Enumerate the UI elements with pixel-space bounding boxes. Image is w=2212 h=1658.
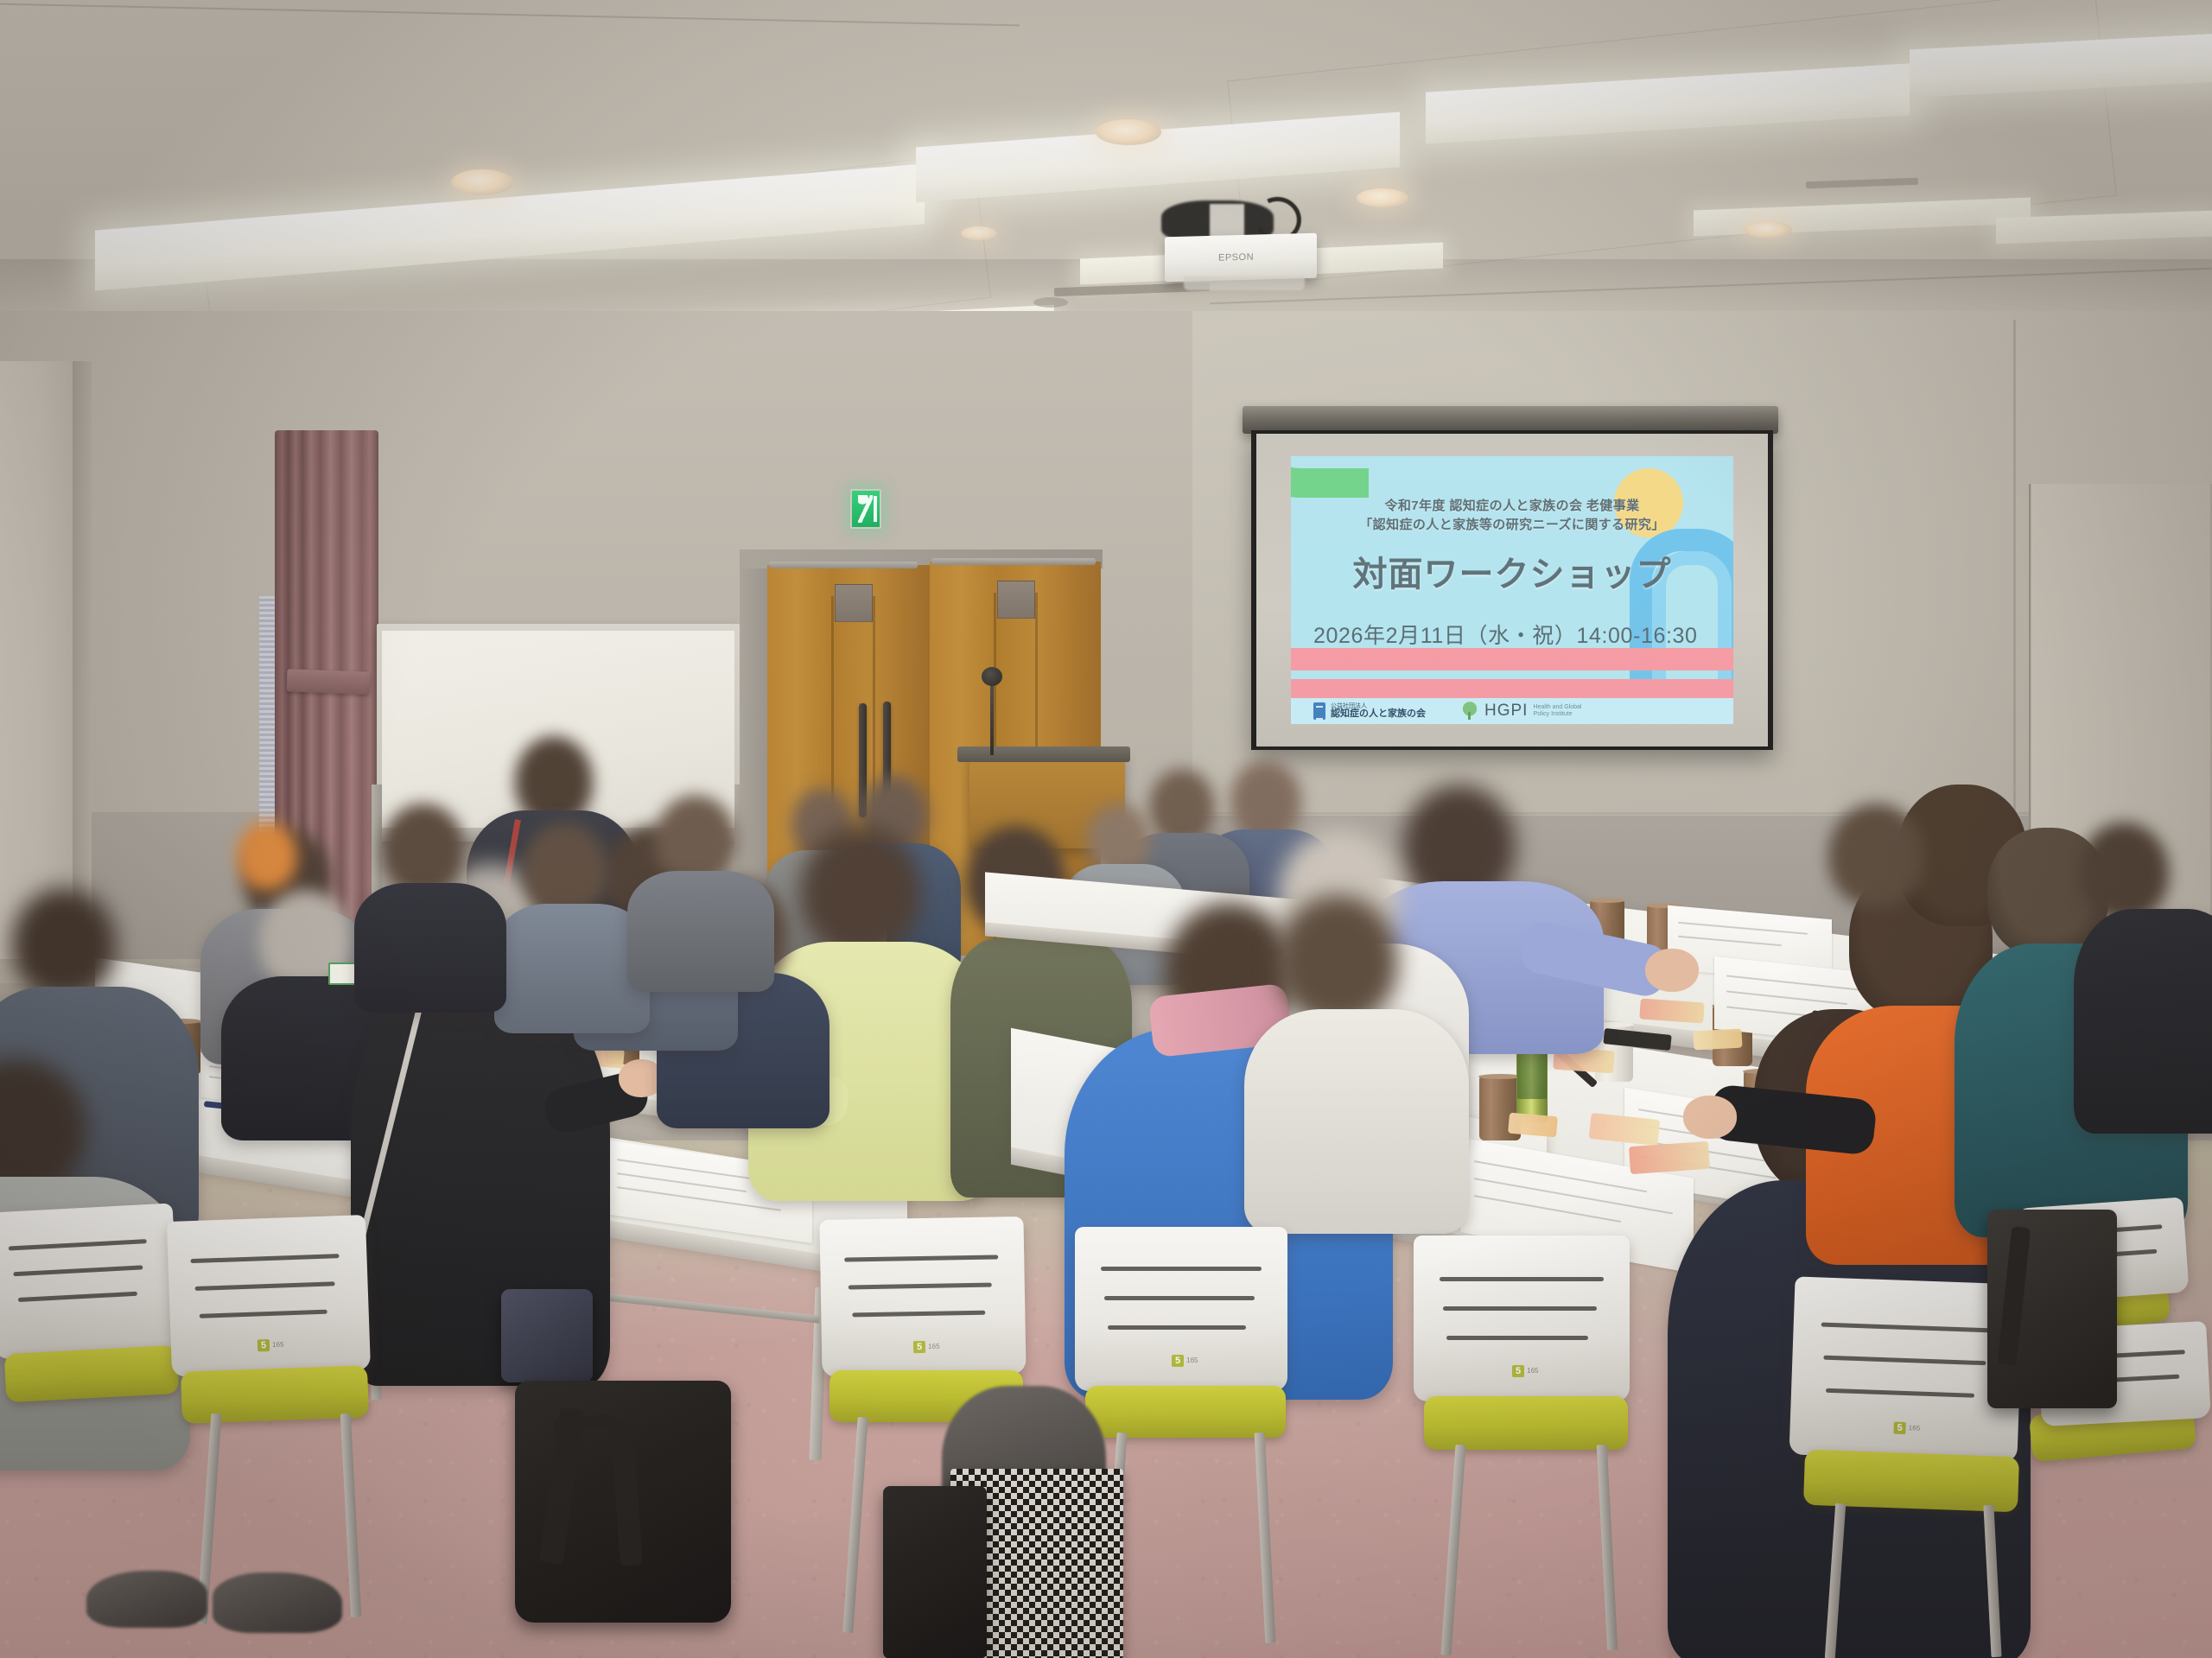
slide-title: 対面ワークショップ [1291,546,1733,596]
shoe [213,1572,342,1633]
projector-brand-label: EPSON [1218,252,1254,264]
kazokunokai-mark-icon [1313,702,1325,720]
slide-pink-band [1291,679,1733,698]
microphone-head [982,667,1002,686]
slide-pink-band [1291,648,1733,670]
recessed-downlight [451,169,513,195]
chair-label-tag: 5 165 [1893,1422,1920,1435]
running-person-icon [858,495,873,523]
door-vision-panel [997,581,1035,619]
chair-seat[interactable] [1424,1396,1628,1450]
attendee-head [237,821,297,890]
hgpi-logo: HGPI Health and Global Policy Institute [1460,702,1582,721]
attendee-hand [1645,949,1699,992]
recessed-downlight [1357,188,1408,207]
recessed-downlight [961,226,997,240]
chair-back[interactable]: 5 165 [1075,1227,1287,1391]
attendee-torso [627,871,774,992]
kazokunokai-logo-main: 認知症の人と家族の会 [1331,709,1426,720]
chair-tag-text: 165 [1527,1368,1538,1375]
hgpi-full-line1: Health and Global [1533,704,1581,711]
chair-back[interactable]: 5 165 [1414,1236,1630,1401]
door-closer-bar [769,562,918,569]
microphone-stand [990,681,994,755]
attendee-head [12,888,116,999]
slide-logo-strip: 公益社団法人 認知症の人と家族の会 HGPI Health and Global… [1291,698,1733,724]
attendee-torso [354,883,506,1013]
slide-subtitle-line1: 令和7年度 認知症の人と家族の会 老健事業 [1291,496,1733,514]
chair-back[interactable]: 5 165 [819,1217,1026,1377]
recessed-downlight [1744,221,1792,238]
emergency-exit-sign [850,489,881,529]
snack-wrapper [1693,1029,1742,1051]
chair-tag-text: 165 [1186,1357,1198,1364]
snack-wrapper [1629,1141,1710,1174]
attendee-torso [2074,909,2212,1134]
attendee-head [800,826,921,956]
projector-lens-housing [1184,276,1305,290]
attendee-torso [494,904,650,1033]
snack-wrapper [1639,998,1704,1023]
projector-ceiling-mount [1210,204,1244,238]
chair-seat[interactable] [1085,1386,1286,1438]
slide-subtitle-line2: 「認知症の人と家族等の研究ニーズに関する研究」 [1291,515,1733,533]
hgpi-full-line2: Policy Institute [1533,711,1581,718]
bag-dark [883,1486,987,1658]
slide-green-arc-decoration [1291,456,1369,498]
chair-label-tag: 5 165 [913,1341,940,1354]
chair-tag-text: 165 [928,1344,940,1351]
snack-wrapper [1508,1113,1558,1138]
chair-tag-number: 5 [1512,1365,1524,1377]
crossbody-bag [501,1289,593,1382]
chair-tag-number: 5 [257,1339,270,1352]
chair-back[interactable]: 5 165 [167,1215,371,1377]
curtain-tieback [287,669,371,694]
chair-label-tag: 5 165 [257,1338,284,1351]
hgpi-abbr: HGPI [1484,702,1528,721]
attendee-head [2079,823,2169,921]
ceiling-projector: EPSON [1165,233,1317,283]
recessed-downlight [1096,119,1161,145]
exit-door-icon [874,496,877,522]
door-vision-panel [835,584,873,622]
attendee-head [382,804,465,895]
attendee-torso [1244,1009,1469,1234]
chair-tag-number: 5 [1893,1422,1906,1435]
chair-label-tag: 5 165 [1172,1355,1198,1367]
chair-seat[interactable] [4,1345,180,1402]
tree-icon [1460,702,1479,721]
shoe [86,1571,207,1628]
chair-back[interactable] [0,1204,180,1360]
lectern-top [957,746,1130,762]
wall-panel-seam [2013,320,2016,873]
chair-tag-number: 5 [913,1341,925,1353]
chair-tag-text: 165 [1909,1425,1921,1432]
chair-tag-text: 165 [272,1341,284,1349]
chair-label-tag: 5 165 [1512,1365,1538,1377]
attendee-hand [1683,1096,1737,1139]
attendee-head [1277,895,1398,1025]
ceiling-speaker [1033,297,1068,308]
slide-date-time: 2026年2月11日（水・祝）14:00-16:30 [1313,619,1698,650]
presentation-slide: 令和7年度 認知症の人と家族の会 老健事業 「認知症の人と家族等の研究ニーズに関… [1291,456,1733,724]
kazokunokai-logo: 公益社団法人 認知症の人と家族の会 [1313,702,1426,720]
door-closer-bar [931,558,1096,565]
chair-tag-number: 5 [1172,1355,1184,1367]
attendee-head [1828,804,1923,907]
meeting-room-photo: EPSON 令和7年度 認知症の人と家族の会 老健事業 「認知症の人と家族等の研… [0,0,2212,1658]
